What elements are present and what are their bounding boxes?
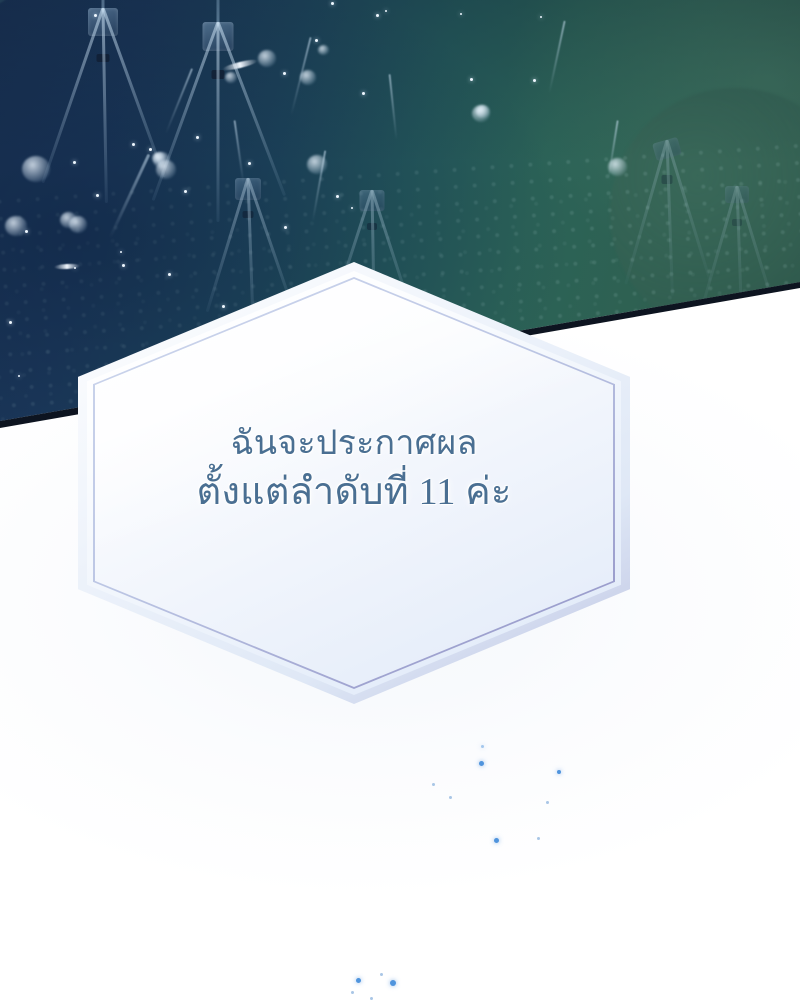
star-particle [132, 143, 135, 146]
star-particle [184, 190, 187, 193]
star-particle [248, 162, 251, 165]
bokeh-particle [608, 158, 627, 176]
bokeh-particle [69, 216, 87, 233]
bokeh-particle [22, 156, 50, 182]
bokeh-particle [476, 105, 490, 118]
sparkle-particle [449, 796, 452, 799]
sparkle-particle [380, 973, 383, 976]
comic-panel: ฉันจะประกาศผล ตั้งแต่ลำดับที่ 11 ค่ะ [0, 0, 800, 1000]
tripod-leg [102, 8, 108, 203]
star-particle [460, 13, 462, 15]
sparkle-particle [481, 745, 484, 748]
star-particle [73, 161, 76, 164]
star-particle [284, 226, 287, 229]
speech-line-2: ตั้งแต่ลำดับที่ 11 ค่ะ [78, 467, 630, 517]
speech-line-1: ฉันจะประกาศผล [78, 422, 630, 467]
star-particle [9, 321, 12, 324]
star-particle [74, 267, 76, 269]
star-particle [283, 72, 286, 75]
sparkle-particle [494, 838, 499, 843]
sparkle-particle [351, 991, 354, 994]
sparkle-particle [356, 978, 361, 983]
sparkle-particle [537, 837, 540, 840]
star-particle [96, 194, 99, 197]
bokeh-particle [5, 216, 27, 236]
star-particle [533, 79, 536, 82]
sparkle-particle [557, 770, 561, 774]
star-particle [470, 78, 473, 81]
star-particle [540, 16, 542, 18]
bokeh-particle [258, 50, 276, 67]
star-particle [336, 195, 339, 198]
star-particle [376, 14, 379, 17]
star-particle [351, 207, 353, 209]
star-particle [18, 375, 20, 377]
camera-rig [648, 140, 686, 300]
star-particle [94, 14, 97, 17]
bokeh-particle [156, 160, 176, 179]
speech-bubble-text: ฉันจะประกาศผล ตั้งแต่ลำดับที่ 11 ค่ะ [78, 422, 630, 517]
star-particle [25, 230, 28, 233]
star-particle [331, 2, 334, 5]
bokeh-particle [307, 155, 327, 174]
star-particle [385, 10, 387, 12]
sparkle-particle [479, 761, 484, 766]
sparkle-particle [390, 980, 396, 986]
speech-bubble: ฉันจะประกาศผล ตั้งแต่ลำดับที่ 11 ค่ะ [78, 262, 630, 704]
star-particle [196, 136, 199, 139]
bokeh-particle [225, 72, 237, 83]
star-particle [315, 39, 318, 42]
star-particle [120, 251, 122, 253]
star-particle [362, 92, 365, 95]
bokeh-particle [318, 45, 329, 55]
bokeh-particle [300, 70, 316, 85]
star-particle [149, 148, 152, 151]
sparkle-particle [432, 783, 435, 786]
sparkle-particle [546, 801, 549, 804]
camera-rig [80, 8, 126, 218]
tripod-leg [217, 22, 220, 222]
